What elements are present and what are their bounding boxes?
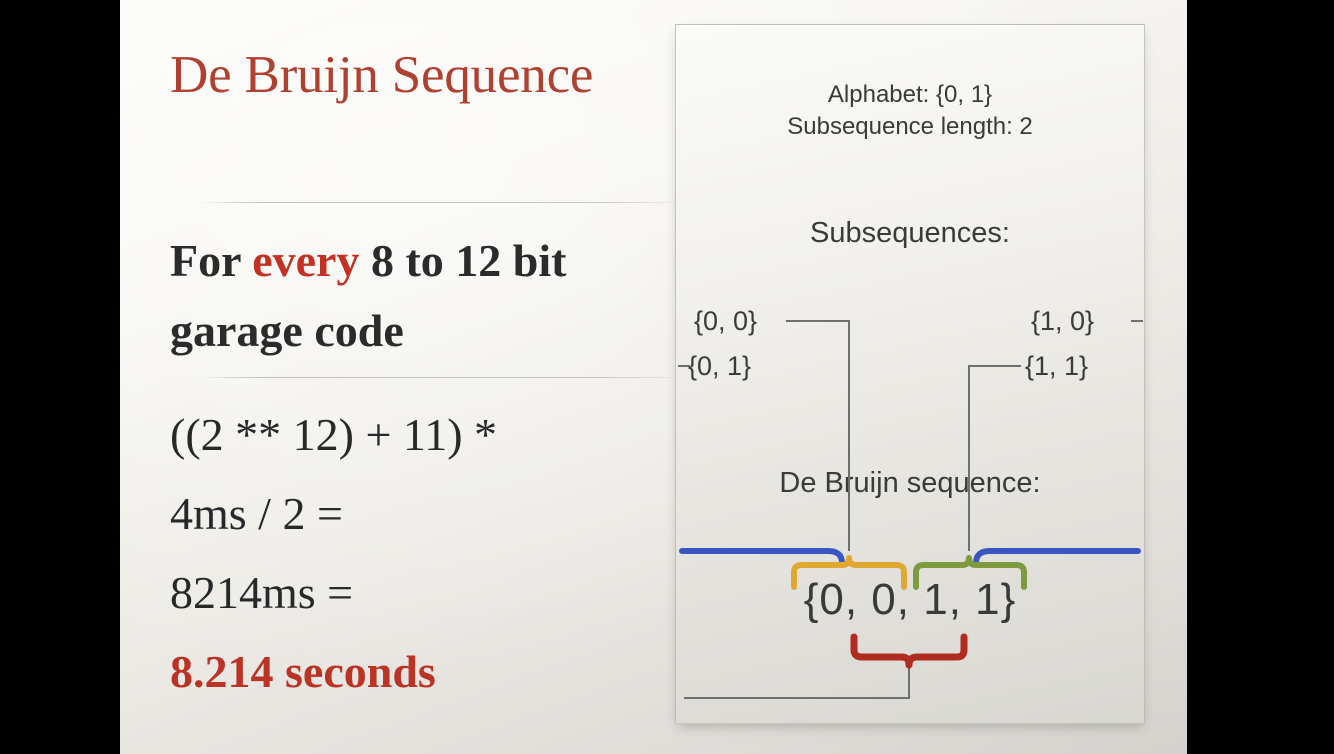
presentation-slide: De Bruijn Sequence For every 8 to 12 bit… <box>120 0 1187 754</box>
connector-red-brace-to-bottom <box>684 665 909 698</box>
headline-accent-word: every <box>252 235 359 286</box>
divider-bottom <box>202 377 682 378</box>
formula-result: 8.214 seconds <box>170 632 670 711</box>
subsequence-item-01: {0, 1} <box>688 351 751 382</box>
subsequence-item-00: {0, 0} <box>694 306 757 337</box>
letterbox-bar-right <box>1187 0 1334 754</box>
formula-line-2: 4ms / 2 = <box>170 474 670 553</box>
headline-text: For every 8 to 12 bit garage code <box>170 226 670 366</box>
sequence-heading: De Bruijn sequence: <box>676 467 1144 500</box>
formula-line-3: 8214ms = <box>170 553 670 632</box>
de-bruijn-sequence-value: {0, 0, 1, 1} <box>676 575 1144 625</box>
letterbox-bar-left <box>0 0 120 754</box>
brace-red <box>854 637 964 665</box>
headline-part-1: For <box>170 235 252 286</box>
diagram-card: Alphabet: {0, 1} Subsequence length: 2 S… <box>675 24 1145 724</box>
slide-left-column: De Bruijn Sequence For every 8 to 12 bit… <box>162 0 682 754</box>
subsequence-length-label: Subsequence length: 2 <box>676 113 1144 141</box>
alphabet-label: Alphabet: {0, 1} <box>676 81 1144 109</box>
formula-block: ((2 ** 12) + 11) * 4ms / 2 = 8214ms = 8.… <box>170 395 670 711</box>
page-title: De Bruijn Sequence <box>170 48 593 104</box>
video-frame: De Bruijn Sequence For every 8 to 12 bit… <box>0 0 1334 754</box>
brace-blue-right-segment <box>976 551 1138 563</box>
connector-11-to-green-brace <box>969 366 1021 551</box>
connector-00-to-yellow-brace <box>786 321 849 551</box>
subsequence-item-11: {1, 1} <box>1025 351 1088 382</box>
formula-line-1: ((2 ** 12) + 11) * <box>170 395 670 474</box>
divider-top <box>202 202 682 203</box>
brace-blue-left-segment <box>682 551 842 563</box>
subsequence-item-10: {1, 0} <box>1031 306 1094 337</box>
subsequences-heading: Subsequences: <box>676 217 1144 250</box>
